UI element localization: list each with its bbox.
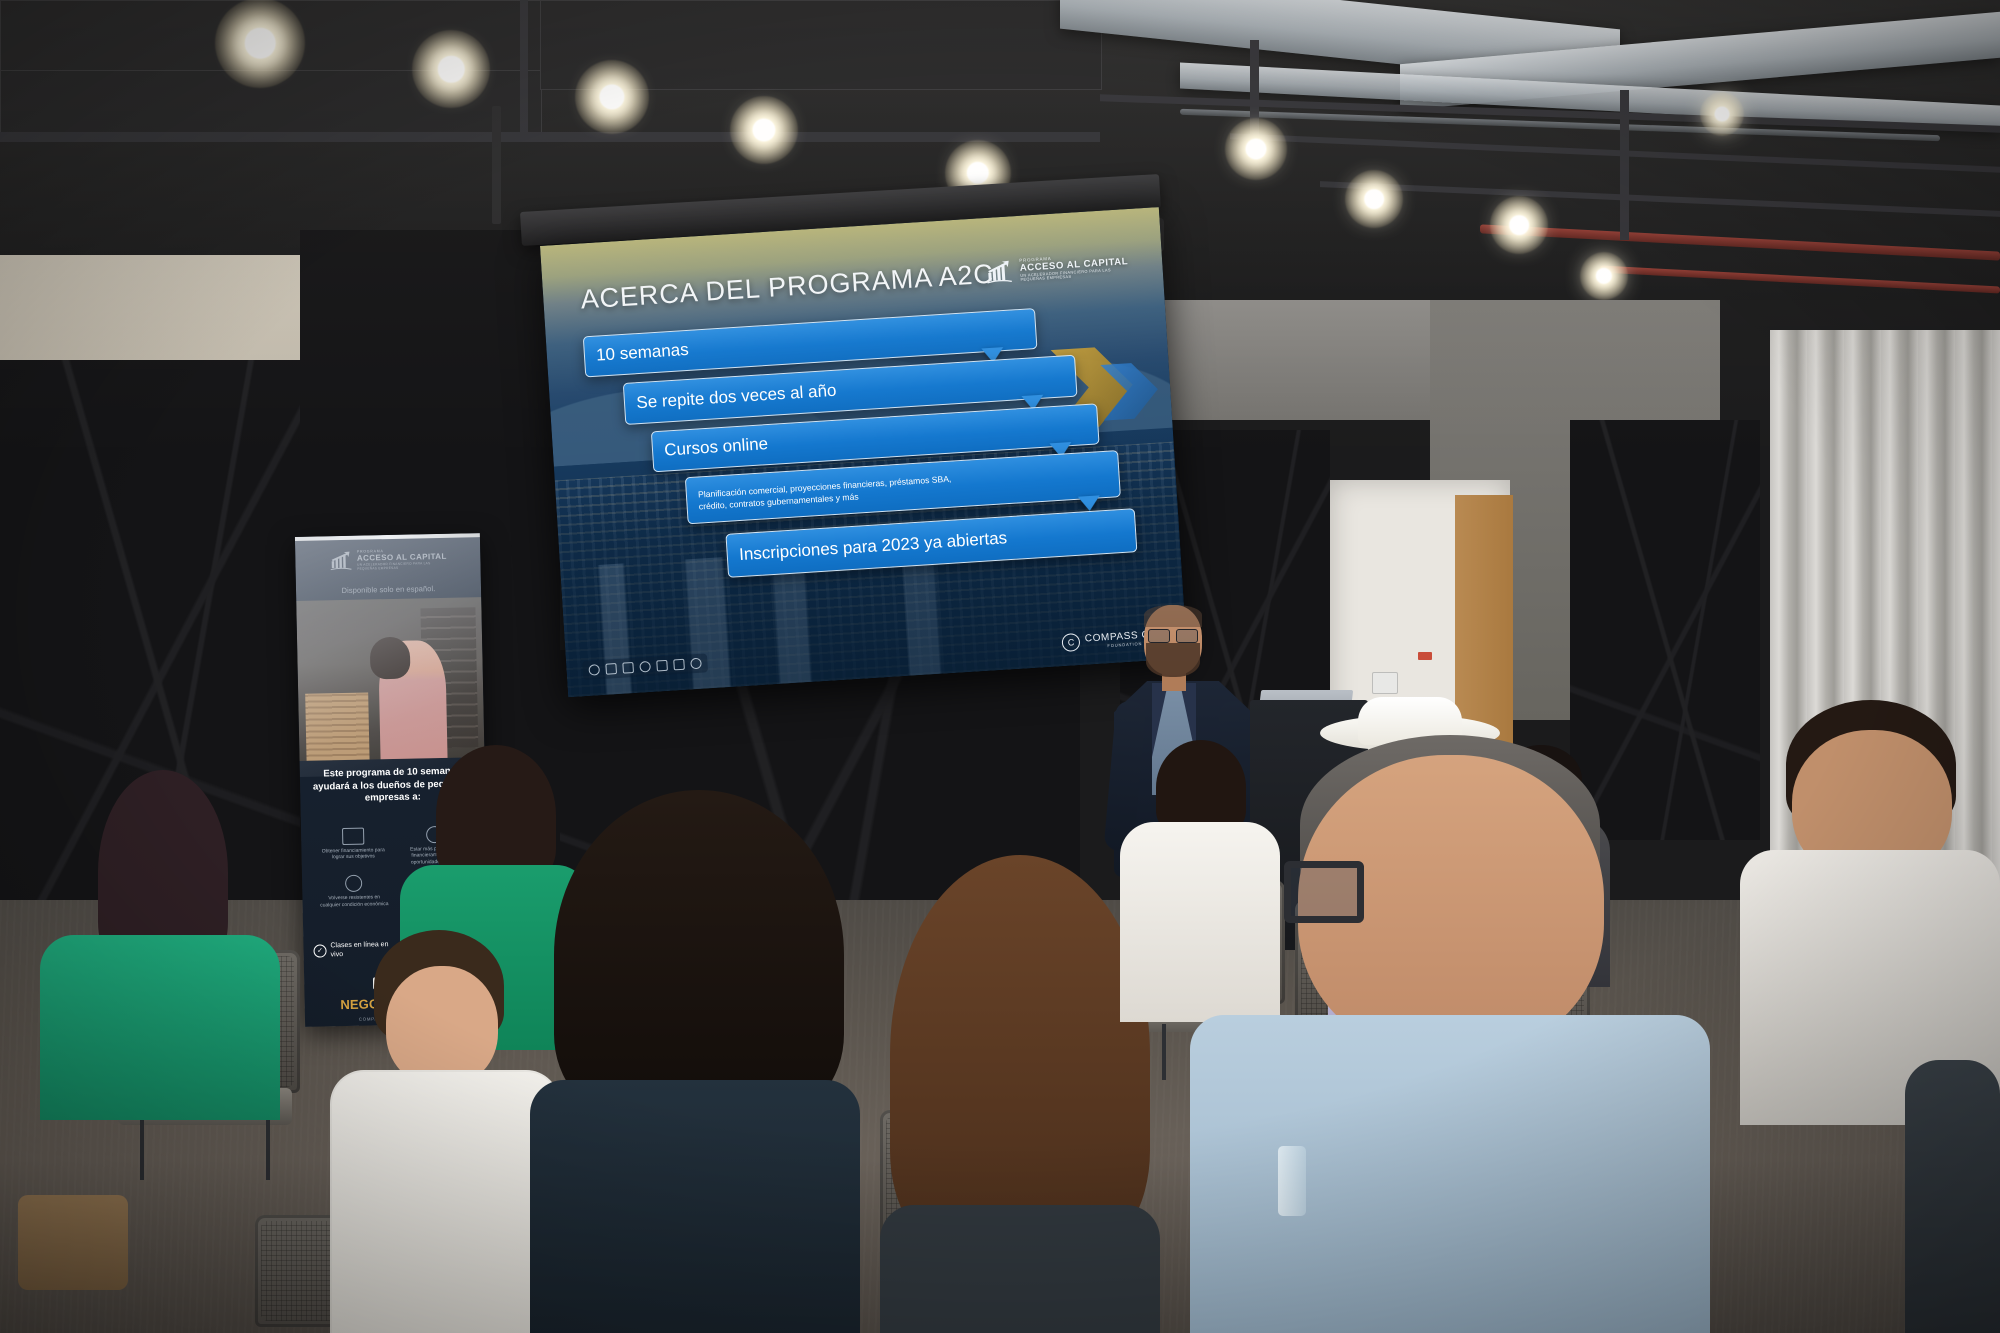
compass-icon: C xyxy=(1061,632,1080,651)
more-options-icon[interactable] xyxy=(690,658,702,670)
bullet-text: Inscripciones para 2023 ya abiertas xyxy=(739,528,1008,565)
audience-member xyxy=(1905,1060,2000,1333)
presentation-slide: ACERCA DEL PROGRAMA A2C PROGRAMA ACCES xyxy=(540,207,1187,697)
highlighter-icon[interactable] xyxy=(622,662,634,674)
ceiling-light xyxy=(1700,92,1744,136)
audience-member xyxy=(530,790,860,1333)
grid-view-icon[interactable] xyxy=(656,660,668,672)
benefit-item: Volverse resistentes en cualquier condic… xyxy=(318,874,390,908)
eyeglasses-icon xyxy=(1148,629,1198,641)
bullet-text: 10 semanas xyxy=(596,340,690,366)
ceiling-light xyxy=(215,0,305,88)
banner-subtitle: Disponible solo en español. xyxy=(296,583,481,596)
benefit-item: Obtener financiamiento para lograr sus o… xyxy=(317,827,389,868)
water-bottle[interactable] xyxy=(1278,1146,1306,1216)
ceiling-light xyxy=(1345,170,1403,228)
audience-member xyxy=(40,770,280,1110)
pointer-icon[interactable] xyxy=(588,664,600,676)
benefit-text: Volverse resistentes en cualquier condic… xyxy=(318,894,390,908)
ceiling-light xyxy=(730,96,798,164)
check-icon: ✓ xyxy=(313,944,326,957)
banner-logo: PROGRAMA ACCESO AL CAPITAL UN ACELERADOR… xyxy=(295,547,480,572)
ceiling-light xyxy=(1580,252,1628,300)
banner-logo-tagline: UN ACELERADOR FINANCIERO PARA LAS PEQUEÑ… xyxy=(357,561,437,571)
down-arrow-icon xyxy=(1078,495,1101,511)
slide-bullet-5: Inscripciones para 2023 ya abiertas xyxy=(726,508,1137,577)
banner-photo xyxy=(296,597,484,761)
handshake-icon xyxy=(345,875,362,892)
audience-member xyxy=(1190,735,1710,1333)
screen-mount-arm xyxy=(492,106,501,224)
bar-chart-arrow-icon xyxy=(329,550,352,570)
benefit-text: Obtener financiamiento para lograr sus o… xyxy=(317,847,389,861)
conference-room-photo: ACERCA DEL PROGRAMA A2C PROGRAMA ACCES xyxy=(0,0,2000,1333)
audience-member xyxy=(880,855,1160,1333)
slide-menu-icon[interactable] xyxy=(639,661,651,673)
ceiling-light xyxy=(1490,196,1548,254)
slide-bullet-list: 10 semanas Se repite dos veces al año Cu… xyxy=(540,207,1187,697)
projection-screen: ACERCA DEL PROGRAMA A2C PROGRAMA ACCES xyxy=(540,207,1187,697)
ceiling-light xyxy=(412,30,490,108)
zoom-icon[interactable] xyxy=(673,659,685,671)
bullet-text: Se repite dos veces al año xyxy=(636,381,837,414)
restroom-sign xyxy=(1372,672,1398,694)
ceiling-light xyxy=(575,60,649,134)
audience-member xyxy=(1740,700,2000,1120)
exit-strip xyxy=(1418,652,1432,660)
pen-icon[interactable] xyxy=(605,663,617,675)
handbag[interactable] xyxy=(18,1195,128,1290)
audience-member xyxy=(330,930,560,1333)
ceiling-light xyxy=(1225,118,1287,180)
cash-icon xyxy=(342,828,364,845)
bullet-text: Cursos online xyxy=(664,435,769,461)
